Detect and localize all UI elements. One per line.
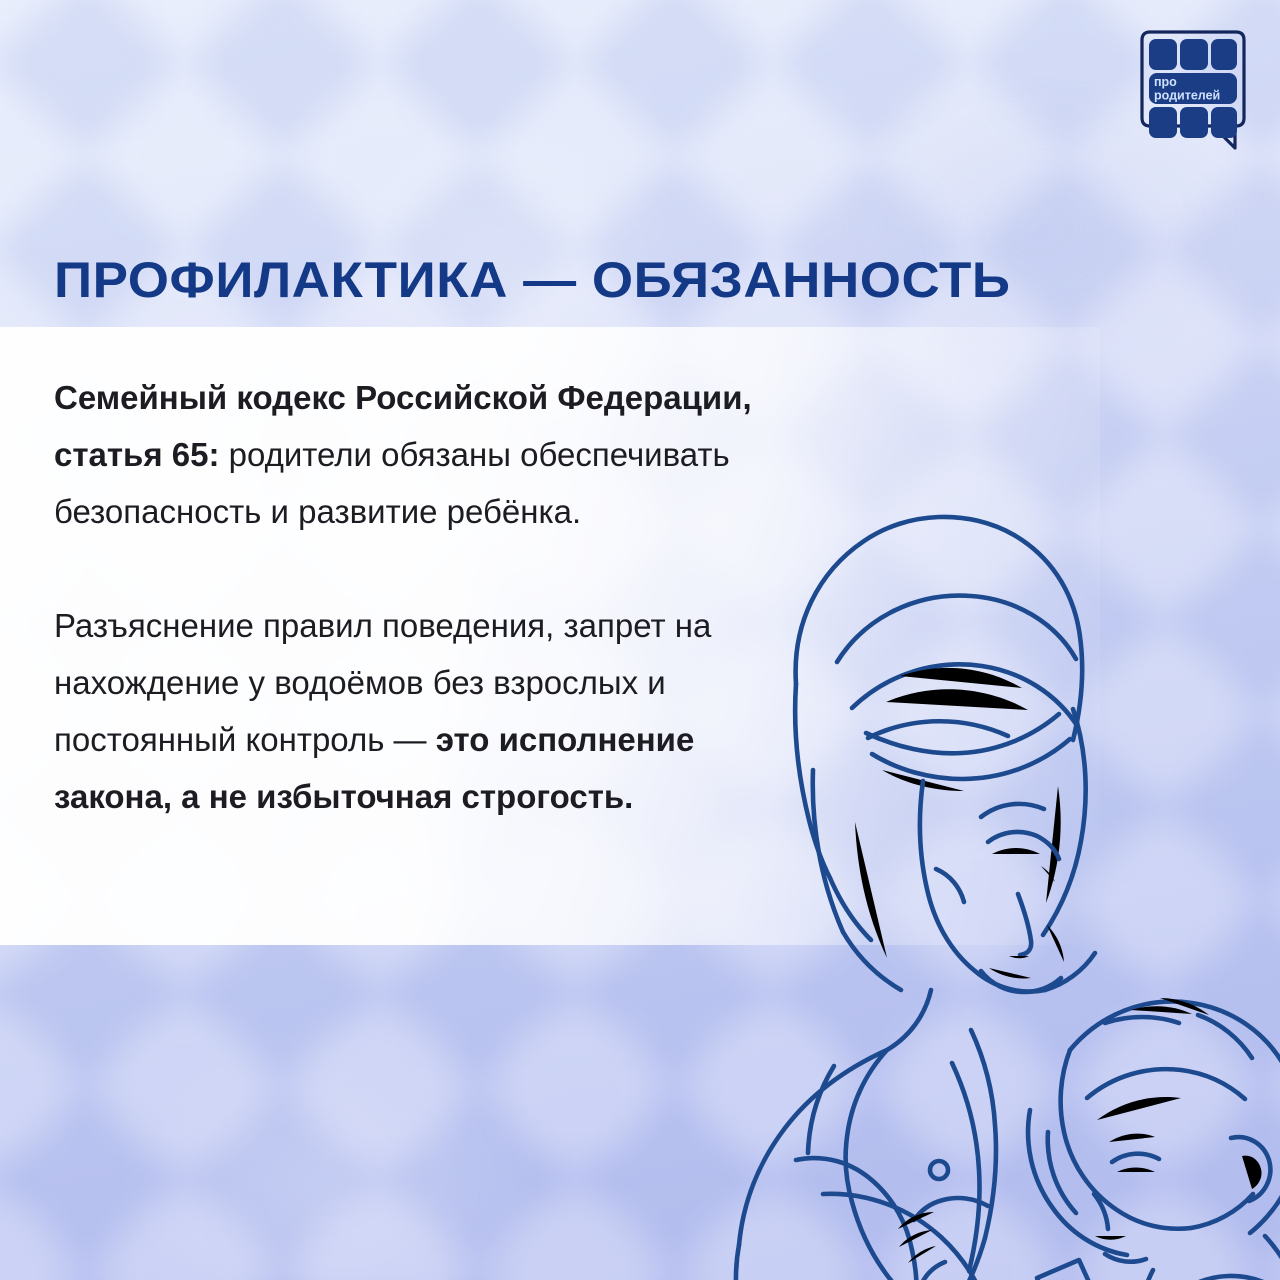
poster: про родителей ПРОФИЛАКТИКА — ОБЯЗАННОСТЬ… <box>0 0 1280 1280</box>
logo-line-2: родителей <box>1154 89 1220 103</box>
pro-roditelej-logo[interactable]: про родителей <box>1134 26 1252 154</box>
page-title: ПРОФИЛАКТИКА — ОБЯЗАННОСТЬ <box>54 252 1011 308</box>
logo-line-1: про <box>1154 75 1177 89</box>
mother-hugging-child-line-art <box>600 470 1280 1280</box>
